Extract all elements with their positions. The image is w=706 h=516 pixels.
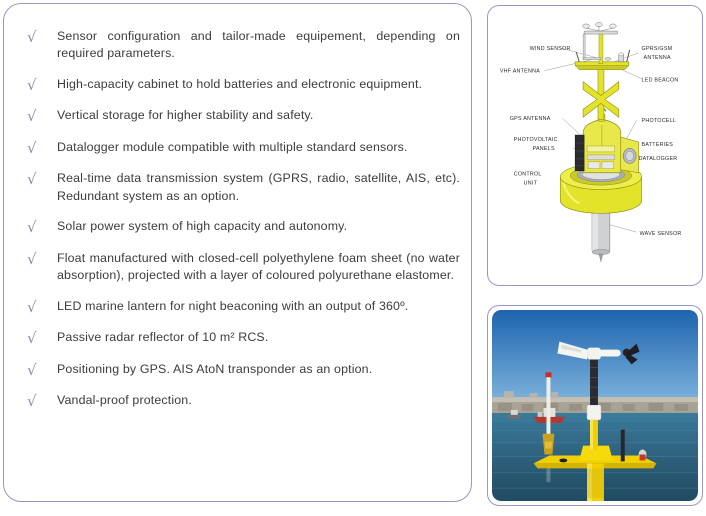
feature-text: Vandal-proof protection.	[57, 392, 460, 409]
feature-item-vandal-proof: √Vandal-proof protection.	[20, 392, 460, 410]
check-icon: √	[20, 361, 57, 379]
check-icon: √	[20, 329, 57, 347]
feature-item-led-marine-lantern: √LED marine lantern for night beaconing …	[20, 298, 460, 316]
check-icon: √	[20, 250, 57, 268]
feature-text: Solar power system of high capacity and …	[57, 218, 460, 235]
buoy-diagram: WIND SENSOR VHF ANTENNA GPS ANTENNA PHOT…	[488, 6, 702, 285]
feature-text: Datalogger module compatible with multip…	[57, 139, 460, 156]
label-control-unit-line1: CONTROL	[514, 172, 542, 178]
feature-text: Float manufactured with closed-cell poly…	[57, 250, 460, 284]
feature-item-sensor-configuration: √Sensor configuration and tailor-made eq…	[20, 28, 460, 62]
feature-item-passive-radar-reflector: √Passive radar reflector of 10 m² RCS.	[20, 329, 460, 347]
feature-text: High-capacity cabinet to hold batteries …	[57, 76, 460, 93]
diagram-panel: WIND SENSOR VHF ANTENNA GPS ANTENNA PHOT…	[487, 5, 703, 286]
buoy-illustration	[560, 22, 641, 261]
feature-item-vertical-storage: √Vertical storage for higher stability a…	[20, 107, 460, 125]
label-wind-sensor: WIND SENSOR	[530, 46, 571, 52]
check-icon: √	[20, 139, 57, 157]
feature-text: LED marine lantern for night beaconing w…	[57, 298, 460, 315]
label-photovoltaic-panels-line2: PANELS	[533, 146, 555, 152]
features-panel: √Sensor configuration and tailor-made eq…	[3, 3, 472, 502]
label-gprs-gsm-antenna-line1: GPRS/GSM	[642, 46, 673, 52]
label-vhf-antenna: VHF ANTENNA	[500, 69, 540, 75]
feature-text: Vertical storage for higher stability an…	[57, 107, 460, 124]
feature-item-realtime-transmission: √Real-time data transmission system (GPR…	[20, 170, 460, 204]
feature-text: Real-time data transmission system (GPRS…	[57, 170, 460, 204]
feature-list: √Sensor configuration and tailor-made eq…	[20, 28, 460, 424]
label-led-beacon: LED BEACON	[642, 78, 679, 84]
photo-panel	[487, 305, 703, 506]
check-icon: √	[20, 107, 57, 125]
feature-item-positioning-gps: √Positioning by GPS. AIS AtoN transponde…	[20, 361, 460, 379]
feature-item-float-manufactured: √Float manufactured with closed-cell pol…	[20, 250, 460, 284]
check-icon: √	[20, 218, 57, 236]
check-icon: √	[20, 298, 57, 316]
label-gprs-gsm-antenna-line2: ANTENNA	[644, 55, 671, 61]
label-gps-antenna: GPS ANTENNA	[510, 116, 551, 122]
buoy-photograph	[492, 310, 698, 501]
feature-item-datalogger-module: √Datalogger module compatible with multi…	[20, 139, 460, 157]
label-photocell: PHOTOCELL	[642, 118, 677, 124]
feature-text: Positioning by GPS. AIS AtoN transponder…	[57, 361, 460, 378]
check-icon: √	[20, 28, 57, 46]
feature-text: Sensor configuration and tailor-made equ…	[57, 28, 460, 62]
feature-item-solar-power: √Solar power system of high capacity and…	[20, 218, 460, 236]
feature-item-high-capacity-cabinet: √High-capacity cabinet to hold batteries…	[20, 76, 460, 94]
label-control-unit-line2: UNIT	[524, 181, 538, 187]
check-icon: √	[20, 76, 57, 94]
label-wave-sensor: WAVE SENSOR	[640, 231, 682, 237]
check-icon: √	[20, 170, 57, 188]
check-icon: √	[20, 392, 57, 410]
feature-text: Passive radar reflector of 10 m² RCS.	[57, 329, 460, 346]
label-photovoltaic-panels-line1: PHOTOVOLTAIC	[514, 137, 558, 143]
label-datalogger: DATALOGGER	[639, 156, 678, 162]
label-batteries: BATTERIES	[642, 142, 674, 148]
